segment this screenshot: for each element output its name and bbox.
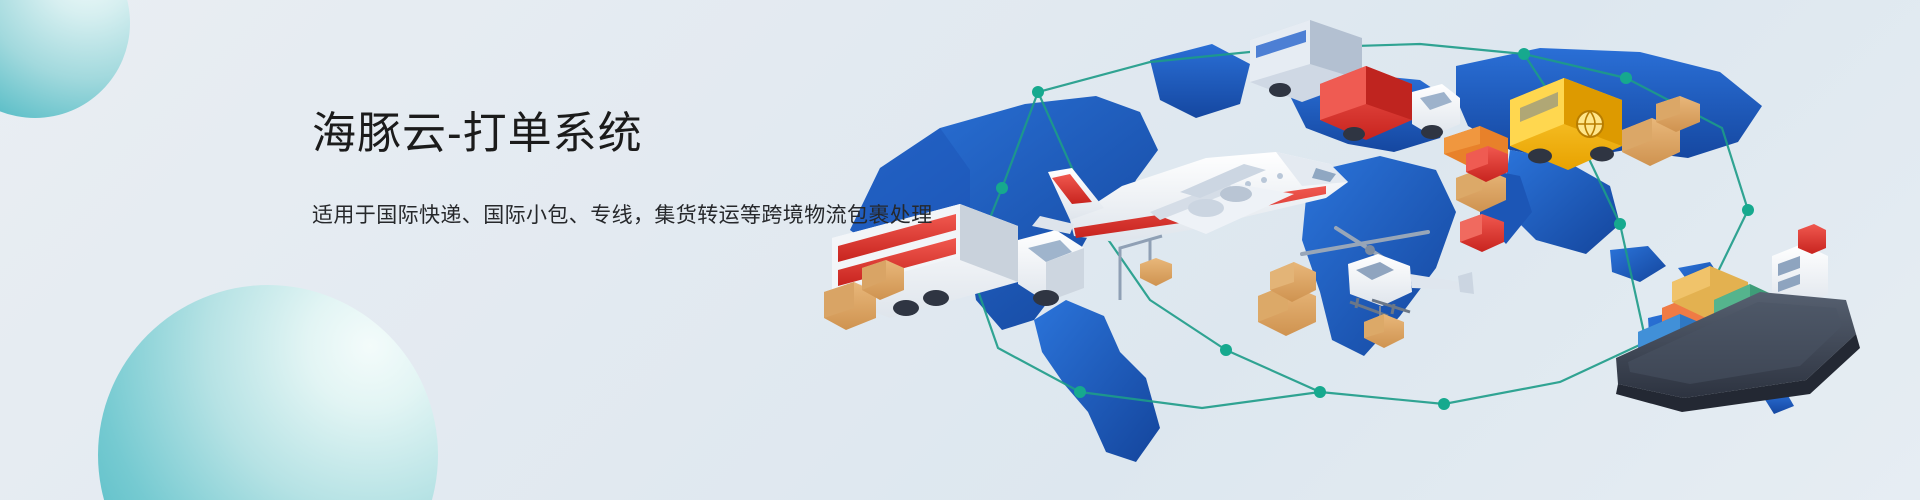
parcel-boxes-secondary xyxy=(1460,214,1504,252)
banner-text-block: 海豚云-打单系统 适用于国际快递、国际小包、专线，集货转运等跨境物流包裹处理 xyxy=(312,105,933,231)
logistics-illustration xyxy=(820,0,1920,500)
page-title: 海豚云-打单系统 xyxy=(312,105,933,163)
decorative-circle-bottom-left xyxy=(98,285,438,500)
parcel-boxes-bottom xyxy=(1258,262,1316,336)
decorative-circle-top-left xyxy=(0,0,130,118)
hero-banner: 海豚云-打单系统 适用于国际快递、国际小包、专线，集货转运等跨境物流包裹处理 xyxy=(0,0,1920,500)
page-subtitle: 适用于国际快递、国际小包、专线，集货转运等跨境物流包裹处理 xyxy=(312,201,933,231)
